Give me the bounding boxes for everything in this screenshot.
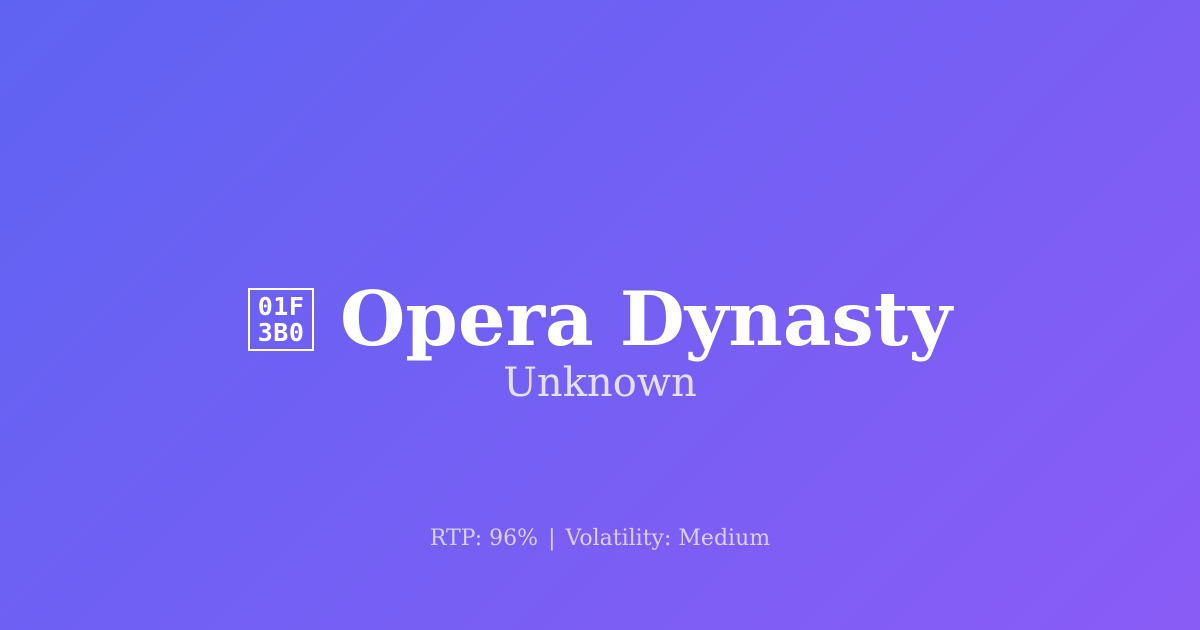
slot-machine-icon-hex-bottom: 3B0 bbox=[258, 320, 305, 346]
rtp-label: RTP: bbox=[430, 526, 482, 551]
slot-machine-icon: 01F 3B0 bbox=[248, 288, 314, 351]
volatility-label: Volatility: bbox=[566, 526, 672, 551]
game-preview-card: 01F 3B0 Opera Dynasty Unknown RTP: 96% |… bbox=[0, 0, 1200, 630]
stats-separator: | bbox=[545, 526, 558, 551]
slot-machine-icon-hex-top: 01F bbox=[258, 294, 305, 320]
rtp-value: 96% bbox=[489, 526, 538, 551]
game-stats: RTP: 96% | Volatility: Medium bbox=[0, 528, 1200, 550]
volatility-value: Medium bbox=[678, 526, 770, 551]
game-provider: Unknown bbox=[0, 363, 1200, 403]
game-title: Opera Dynasty bbox=[340, 282, 952, 357]
